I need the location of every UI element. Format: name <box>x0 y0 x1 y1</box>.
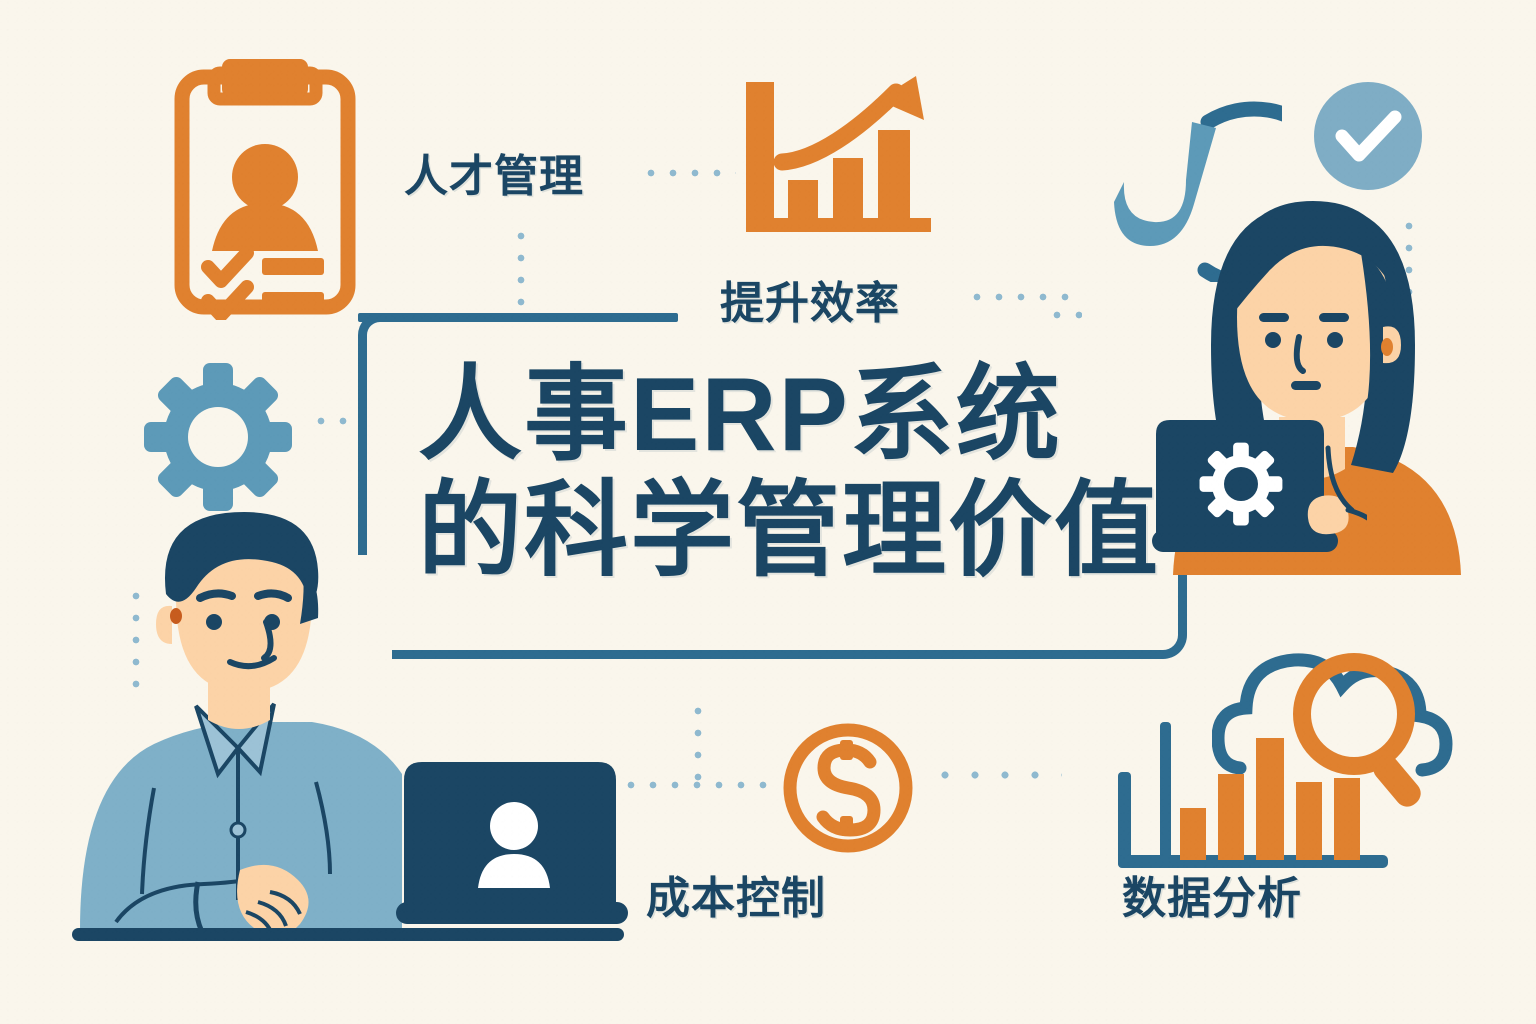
clipboard-person-checklist-icon <box>170 55 360 325</box>
dotted-connector-center-vertical <box>693 700 703 784</box>
bracket-frame-top <box>358 313 678 322</box>
desk-surface-line <box>72 928 624 941</box>
infographic-canvas: 人才管理 提升效率 成本控制 数据分析 人事ERP系统 的科学管理价值 <box>0 0 1536 1024</box>
title-line-1: 人事ERP系统 <box>418 360 1178 470</box>
magnifying-glass-icon <box>1288 648 1448 818</box>
dotted-connector-arc-right <box>1046 310 1082 320</box>
page-title: 人事ERP系统 的科学管理价值 <box>418 360 1178 586</box>
laptop-person-icon <box>396 760 646 940</box>
gear-icon <box>138 363 298 518</box>
dotted-connector-efficiency-right <box>966 292 1082 302</box>
dotted-connector-gear-right <box>310 416 350 426</box>
label-improve-efficiency: 提升效率 <box>720 267 900 331</box>
title-line-2: 的科学管理价值 <box>418 476 1178 586</box>
laptop-gear-icon <box>1152 418 1367 578</box>
dotted-connector-talent-vertical <box>516 225 526 311</box>
dotted-connector-coin-right <box>930 770 1062 780</box>
label-cost-control: 成本控制 <box>646 862 826 926</box>
bracket-frame-bottom-right-corner <box>1144 625 1187 659</box>
label-data-analysis: 数据分析 <box>1122 862 1302 926</box>
dollar-coin-icon <box>778 718 918 863</box>
label-talent-management: 人才管理 <box>404 140 584 204</box>
check-circle-badge-icon <box>1312 80 1424 197</box>
dotted-connector-talent-to-chart <box>640 168 736 178</box>
growth-bar-chart-arrow-icon <box>738 72 938 247</box>
